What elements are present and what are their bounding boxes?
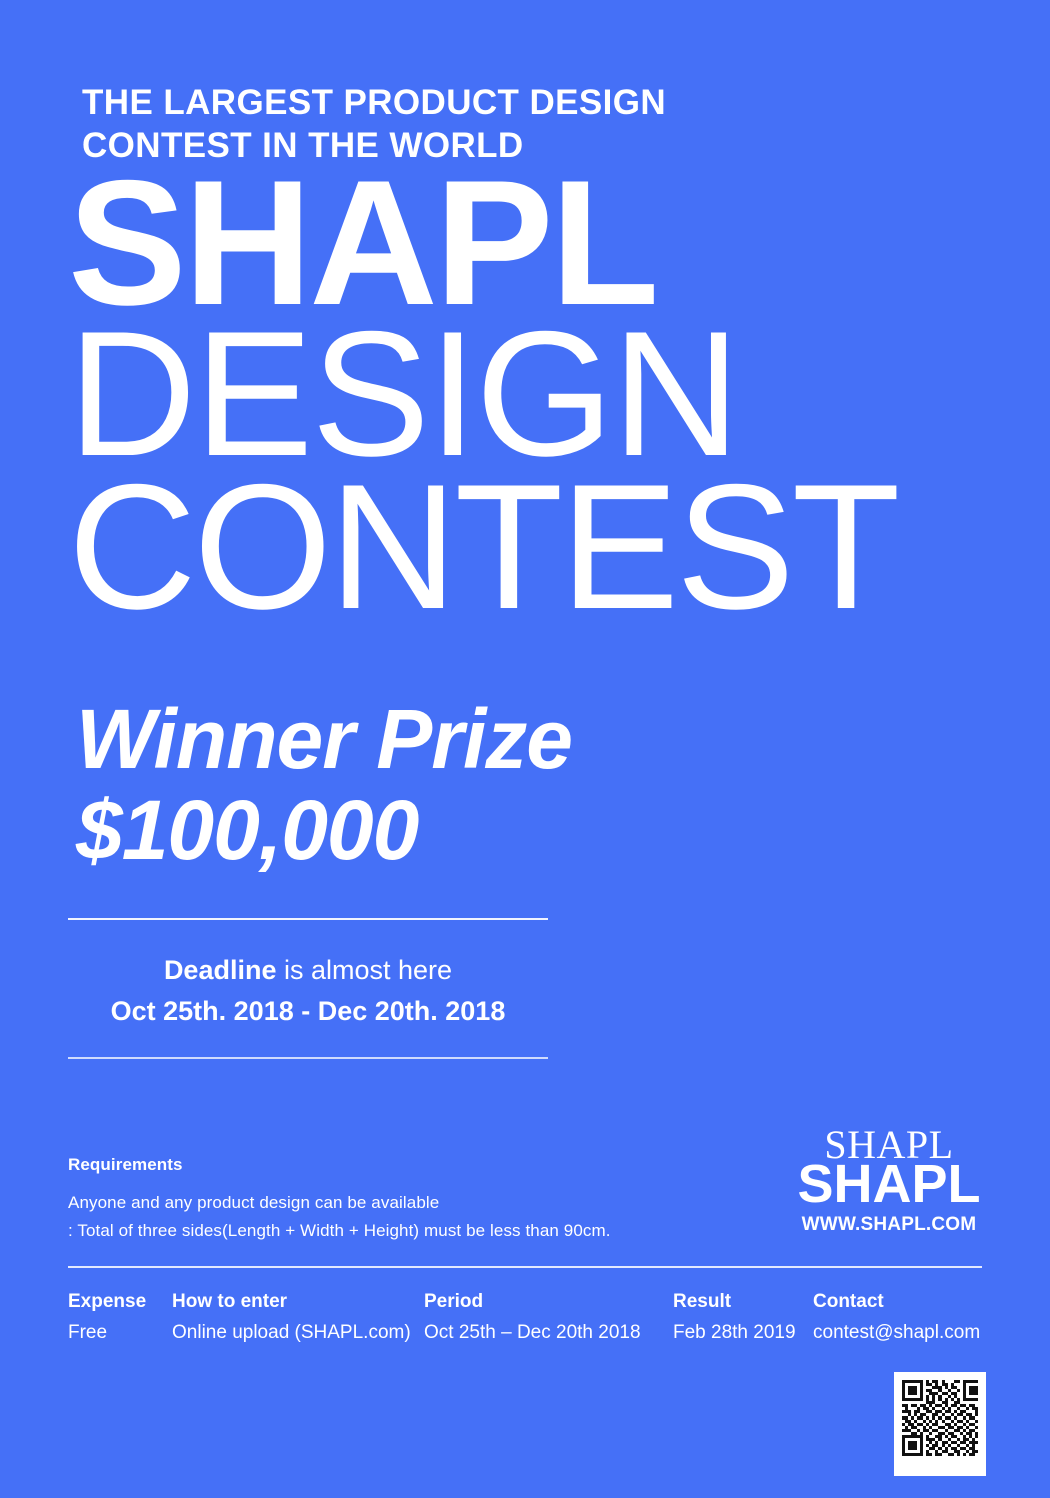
footer-divider	[68, 1266, 982, 1268]
deadline-divider-bottom	[68, 1057, 548, 1059]
info-column-period: Period Oct 25th – Dec 20th 2018	[424, 1290, 641, 1345]
brand-lockup: SHAPL SHAPL WWW.SHAPL.COM	[794, 1126, 984, 1236]
info-value: Oct 25th – Dec 20th 2018	[424, 1320, 641, 1346]
deadline-strong: Deadline	[164, 955, 277, 985]
info-label: Result	[673, 1290, 796, 1314]
brand-wordmark-sans: SHAPL	[794, 1161, 984, 1209]
deadline-rest: is almost here	[276, 955, 452, 985]
info-value: contest@shapl.com	[813, 1320, 980, 1346]
deadline-divider-top	[68, 918, 548, 920]
info-value: Feb 28th 2019	[673, 1320, 796, 1346]
info-column-result: Result Feb 28th 2019	[673, 1290, 796, 1345]
deadline-dates: Oct 25th. 2018 - Dec 20th. 2018	[68, 991, 548, 1032]
qr-code-matrix	[902, 1380, 978, 1456]
deadline-content: Deadline is almost here Oct 25th. 2018 -…	[68, 920, 548, 1057]
prize-label: Winner Prize	[76, 694, 796, 785]
info-label: Period	[424, 1290, 641, 1314]
info-label: Expense	[68, 1290, 146, 1314]
brand-website-url: WWW.SHAPL.COM	[794, 1214, 984, 1236]
info-column-how-to-enter: How to enter Online upload (SHAPL.com)	[172, 1290, 411, 1345]
requirements-line-2: : Total of three sides(Length + Width + …	[68, 1217, 688, 1245]
qr-code[interactable]	[894, 1372, 986, 1476]
info-column-expense: Expense Free	[68, 1290, 146, 1345]
info-column-contact: Contact contest@shapl.com	[813, 1290, 980, 1345]
prize-amount: $100,000	[76, 785, 796, 876]
deadline-headline: Deadline is almost here	[68, 950, 548, 991]
prize-block: Winner Prize $100,000	[76, 694, 796, 875]
deadline-block: Deadline is almost here Oct 25th. 2018 -…	[68, 918, 548, 1059]
requirements-title: Requirements	[68, 1155, 688, 1175]
main-headline: SHAPL DESIGN CONTEST	[68, 168, 998, 629]
headline-line-contest: CONTEST	[68, 465, 998, 629]
requirements-line-1: Anyone and any product design can be ava…	[68, 1189, 688, 1217]
info-label: How to enter	[172, 1290, 411, 1314]
info-value: Online upload (SHAPL.com)	[172, 1320, 411, 1346]
poster-canvas: THE LARGEST PRODUCT DESIGN CONTEST IN TH…	[0, 0, 1050, 1498]
requirements-block: Requirements Anyone and any product desi…	[68, 1155, 688, 1244]
kicker-line-1: THE LARGEST PRODUCT DESIGN	[82, 82, 862, 125]
info-label: Contact	[813, 1290, 980, 1314]
info-value: Free	[68, 1320, 146, 1346]
